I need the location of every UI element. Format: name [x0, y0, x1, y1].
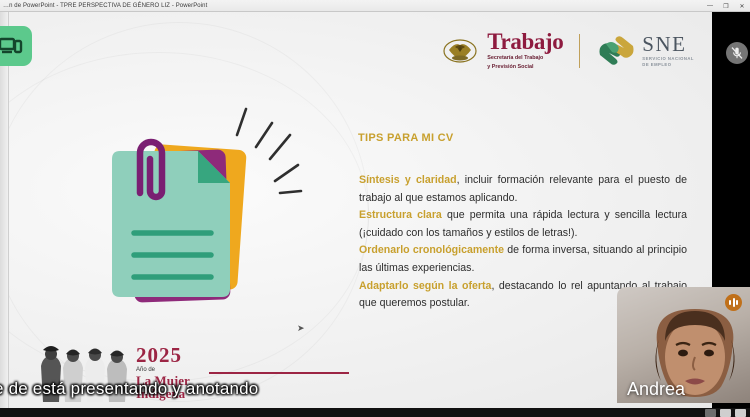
motion-lines [237, 109, 301, 193]
sne-subtitle-line2: DE EMPLEO [642, 63, 694, 67]
trabajo-brand: Trabajo Secretaría del Trabajo y Previsi… [487, 30, 563, 72]
window-controls: — ❐ ✕ [702, 0, 750, 12]
documents-illustration [94, 107, 309, 322]
bullet-accent-2: Estructura clara [359, 209, 442, 221]
brand-title: Trabajo [487, 30, 563, 53]
logo-divider [579, 34, 580, 68]
tray-icon-2[interactable] [720, 409, 731, 417]
close-button[interactable]: ✕ [734, 0, 750, 12]
screen-share-icon[interactable] [0, 26, 32, 66]
sne-logo: SNE SERVICIO NACIONAL DE EMPLEO [596, 34, 694, 67]
sne-text-block: SNE SERVICIO NACIONAL DE EMPLEO [642, 34, 694, 67]
powerpoint-title-bar: …n de PowerPoint - TPRE PERSPECTIVA DE G… [0, 0, 750, 12]
window-title: …n de PowerPoint - TPRE PERSPECTIVA DE G… [0, 3, 207, 9]
tray-icon-1[interactable] [705, 409, 716, 417]
participant-video-tile[interactable]: Andrea [617, 287, 750, 403]
audio-level-icon [725, 294, 742, 311]
sne-title: SNE [642, 34, 694, 55]
bullet-accent-4: Adaptarlo según la oferta [359, 280, 491, 292]
sne-hands-icon [596, 35, 636, 67]
live-caption: e de está presentando y anotando [0, 379, 354, 399]
bullet-accent-1: Síntesis y claridad [359, 174, 457, 186]
microphone-muted-icon[interactable] [726, 42, 748, 64]
restore-button[interactable]: ❐ [718, 0, 734, 12]
minimize-button[interactable]: — [702, 0, 718, 12]
badge-year: 2025 [136, 345, 190, 366]
slide-title: TIPS PARA MI CV [358, 132, 454, 144]
powerpoint-window: Trabajo Secretaría del Trabajo y Previsi… [0, 12, 712, 417]
slide-header-logos: Trabajo Secretaría del Trabajo y Previsi… [443, 30, 694, 72]
tray-icons [705, 409, 746, 417]
participant-name: Andrea [627, 379, 685, 400]
mouse-cursor: ➤ [297, 323, 305, 334]
badge-rule [209, 372, 349, 374]
taskbar-strip [0, 408, 750, 417]
bullet-accent-3: Ordenarlo cronológicamente [359, 244, 504, 256]
sne-subtitle-line1: SERVICIO NACIONAL [642, 57, 694, 61]
tray-icon-3[interactable] [735, 409, 746, 417]
slide-canvas[interactable]: Trabajo Secretaría del Trabajo y Previsi… [9, 12, 712, 408]
mexican-eagle-seal-icon [443, 34, 477, 68]
computer-screen: …n de PowerPoint - TPRE PERSPECTIVA DE G… [0, 0, 750, 417]
brand-subtitle-line1: Secretaría del Trabajo [487, 55, 563, 62]
powerpoint-left-chrome [0, 12, 9, 417]
brand-subtitle-line2: y Previsión Social [487, 64, 563, 71]
